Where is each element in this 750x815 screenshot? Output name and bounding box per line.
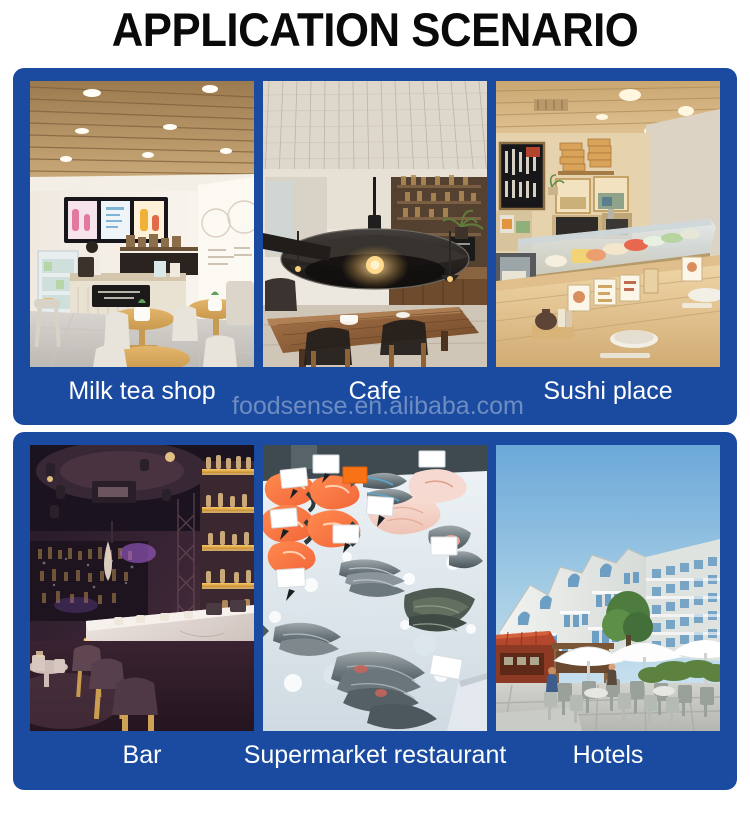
hotel-exterior-terrace-umbrellas-photo — [496, 445, 720, 731]
scenario-row-top: Milk tea shop — [13, 68, 737, 425]
scenario-cell-supermarket-restaurant[interactable]: Supermarket restaurant — [263, 445, 487, 790]
scenario-label: Supermarket restaurant — [244, 740, 507, 770]
scenario-label: Cafe — [349, 376, 402, 406]
cafe-interior-pendant-lamp-photo — [263, 81, 487, 367]
scenario-cell-bar[interactable]: Bar — [30, 445, 254, 790]
scenario-panel-bottom: Bar — [13, 432, 737, 790]
page-title: APPLICATION SCENARIO — [26, 2, 724, 58]
sushi-bar-counter-photo — [496, 81, 720, 367]
bar-lounge-marble-counter-photo — [30, 445, 254, 731]
milk-tea-shop-interior-photo — [30, 81, 254, 367]
fish-on-ice-market-display-photo — [263, 445, 487, 731]
scenario-label: Bar — [123, 740, 162, 770]
scenario-cell-milk-tea-shop[interactable]: Milk tea shop — [30, 81, 254, 425]
scenario-panel-top: Milk tea shop — [13, 68, 737, 425]
scenario-row-bottom: Bar — [13, 432, 737, 790]
scenario-cell-cafe[interactable]: Cafe — [263, 81, 487, 425]
scenario-cell-hotels[interactable]: Hotels — [496, 445, 720, 790]
scenario-label: Milk tea shop — [68, 376, 215, 406]
scenario-cell-sushi-place[interactable]: Sushi place — [496, 81, 720, 425]
scenario-label: Sushi place — [543, 376, 672, 406]
scenario-label: Hotels — [573, 740, 644, 770]
